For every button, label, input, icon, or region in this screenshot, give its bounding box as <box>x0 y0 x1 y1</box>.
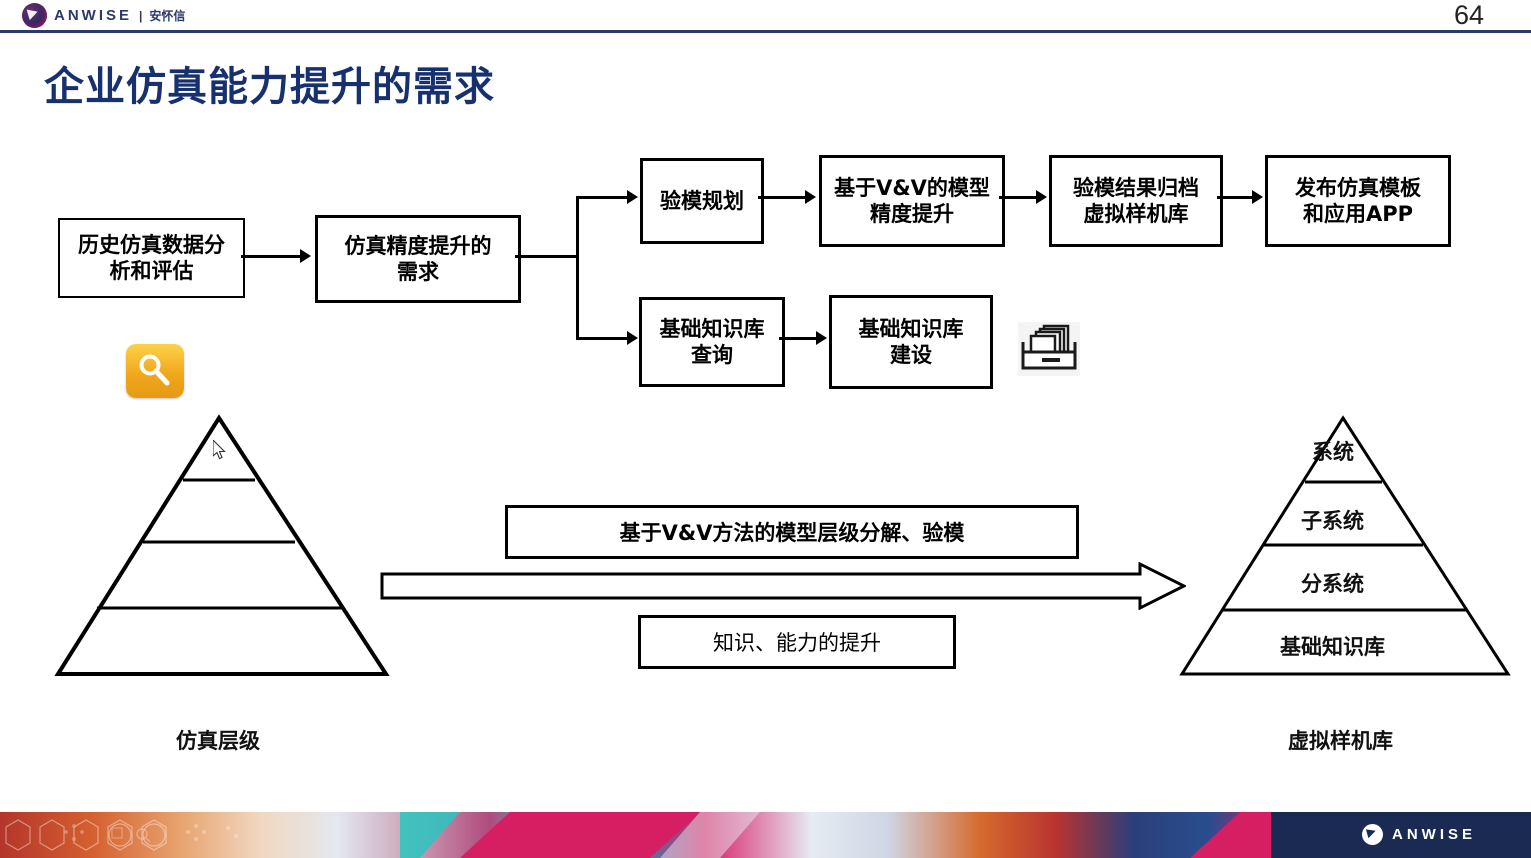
arrowhead-icon <box>805 190 816 204</box>
anwise-logo: ANWISE | 安怀信 <box>22 3 185 28</box>
pyramid-level-branch-system: 分系统 <box>1301 568 1364 598</box>
anwise-footer-logo-icon <box>1362 824 1383 845</box>
pyramid-level-subsystem: 子系统 <box>1301 505 1364 535</box>
connector-archive-to-publish <box>1217 196 1253 199</box>
flow-box-label: 基于V&V的模型精度提升 <box>834 175 990 228</box>
footer-logo-text: ANWISE <box>1392 826 1476 843</box>
flow-box-vv-accuracy[interactable]: 基于V&V的模型精度提升 <box>819 155 1005 247</box>
mouse-cursor <box>213 440 227 460</box>
arrowhead-icon <box>627 190 638 204</box>
flow-box-label: 发布仿真模板和应用APP <box>1295 175 1421 228</box>
flow-box-label: 验模结果归档虚拟样机库 <box>1073 175 1199 228</box>
anwise-logo-separator: | <box>139 9 142 23</box>
search-icon[interactable] <box>126 344 184 398</box>
progression-arrow <box>380 562 1186 610</box>
anwise-logo-text: ANWISE <box>54 7 132 24</box>
arrowhead-icon <box>300 249 311 263</box>
arrowhead-icon <box>1252 190 1263 204</box>
footer-logo: ANWISE <box>1362 824 1476 845</box>
pyramid-left-caption: 仿真层级 <box>176 725 260 755</box>
slide-header: ANWISE | 安怀信 64 <box>0 0 1531 31</box>
flow-box-kb-build[interactable]: 基础知识库建设 <box>829 295 993 389</box>
flow-box-archive-library[interactable]: 验模结果归档虚拟样机库 <box>1049 155 1223 247</box>
flow-box-history-analysis[interactable]: 历史仿真数据分析和评估 <box>58 218 245 298</box>
flow-box-label: 验模规划 <box>660 188 744 214</box>
connector-planning-to-vv <box>758 196 806 199</box>
flow-box-accuracy-demand[interactable]: 仿真精度提升的需求 <box>315 215 521 303</box>
connector-to-kb-query <box>576 337 628 340</box>
anwise-logo-chinese: 安怀信 <box>149 7 185 24</box>
flow-box-label: 基础知识库建设 <box>859 316 964 369</box>
anwise-logo-icon <box>22 3 47 28</box>
page-title: 企业仿真能力提升的需求 <box>44 54 495 112</box>
magnifier-glyph <box>135 351 175 391</box>
flow-box-label: 基础知识库查询 <box>660 316 765 369</box>
arrowhead-icon <box>1036 190 1047 204</box>
connector-to-validation-planning <box>576 196 628 199</box>
connector-history-to-demand <box>241 255 301 258</box>
flow-box-publish-template[interactable]: 发布仿真模板和应用APP <box>1265 155 1451 247</box>
pyramid-level-knowledge-base: 基础知识库 <box>1280 631 1385 661</box>
flow-box-kb-query[interactable]: 基础知识库查询 <box>639 297 785 387</box>
label-box-knowledge-uplift[interactable]: 知识、能力的提升 <box>638 615 956 669</box>
footer-diagonal-shapes <box>400 812 880 858</box>
slide-footer: ANWISE <box>0 812 1531 858</box>
connector-split-vertical <box>576 196 579 340</box>
flow-box-validation-planning[interactable]: 验模规划 <box>640 158 764 244</box>
connector-vv-to-archive <box>999 196 1037 199</box>
connector-demand-stem <box>515 255 578 258</box>
arrowhead-icon <box>627 331 638 345</box>
header-divider <box>0 30 1531 33</box>
page-number: 64 <box>1454 0 1484 31</box>
arrowhead-icon <box>816 331 827 345</box>
flow-box-label: 历史仿真数据分析和评估 <box>78 232 225 285</box>
footer-hex-pattern <box>0 812 360 858</box>
label-box-text: 基于V&V方法的模型层级分解、验模 <box>620 517 965 547</box>
connector-query-to-build <box>779 337 817 340</box>
pyramid-right-caption: 虚拟样机库 <box>1288 725 1393 755</box>
flow-box-label: 仿真精度提升的需求 <box>345 233 492 286</box>
label-box-vv-decomposition[interactable]: 基于V&V方法的模型层级分解、验模 <box>505 505 1079 559</box>
file-box-icon <box>1014 318 1084 380</box>
label-box-text: 知识、能力的提升 <box>713 627 881 657</box>
pyramid-level-system: 系统 <box>1312 436 1354 466</box>
